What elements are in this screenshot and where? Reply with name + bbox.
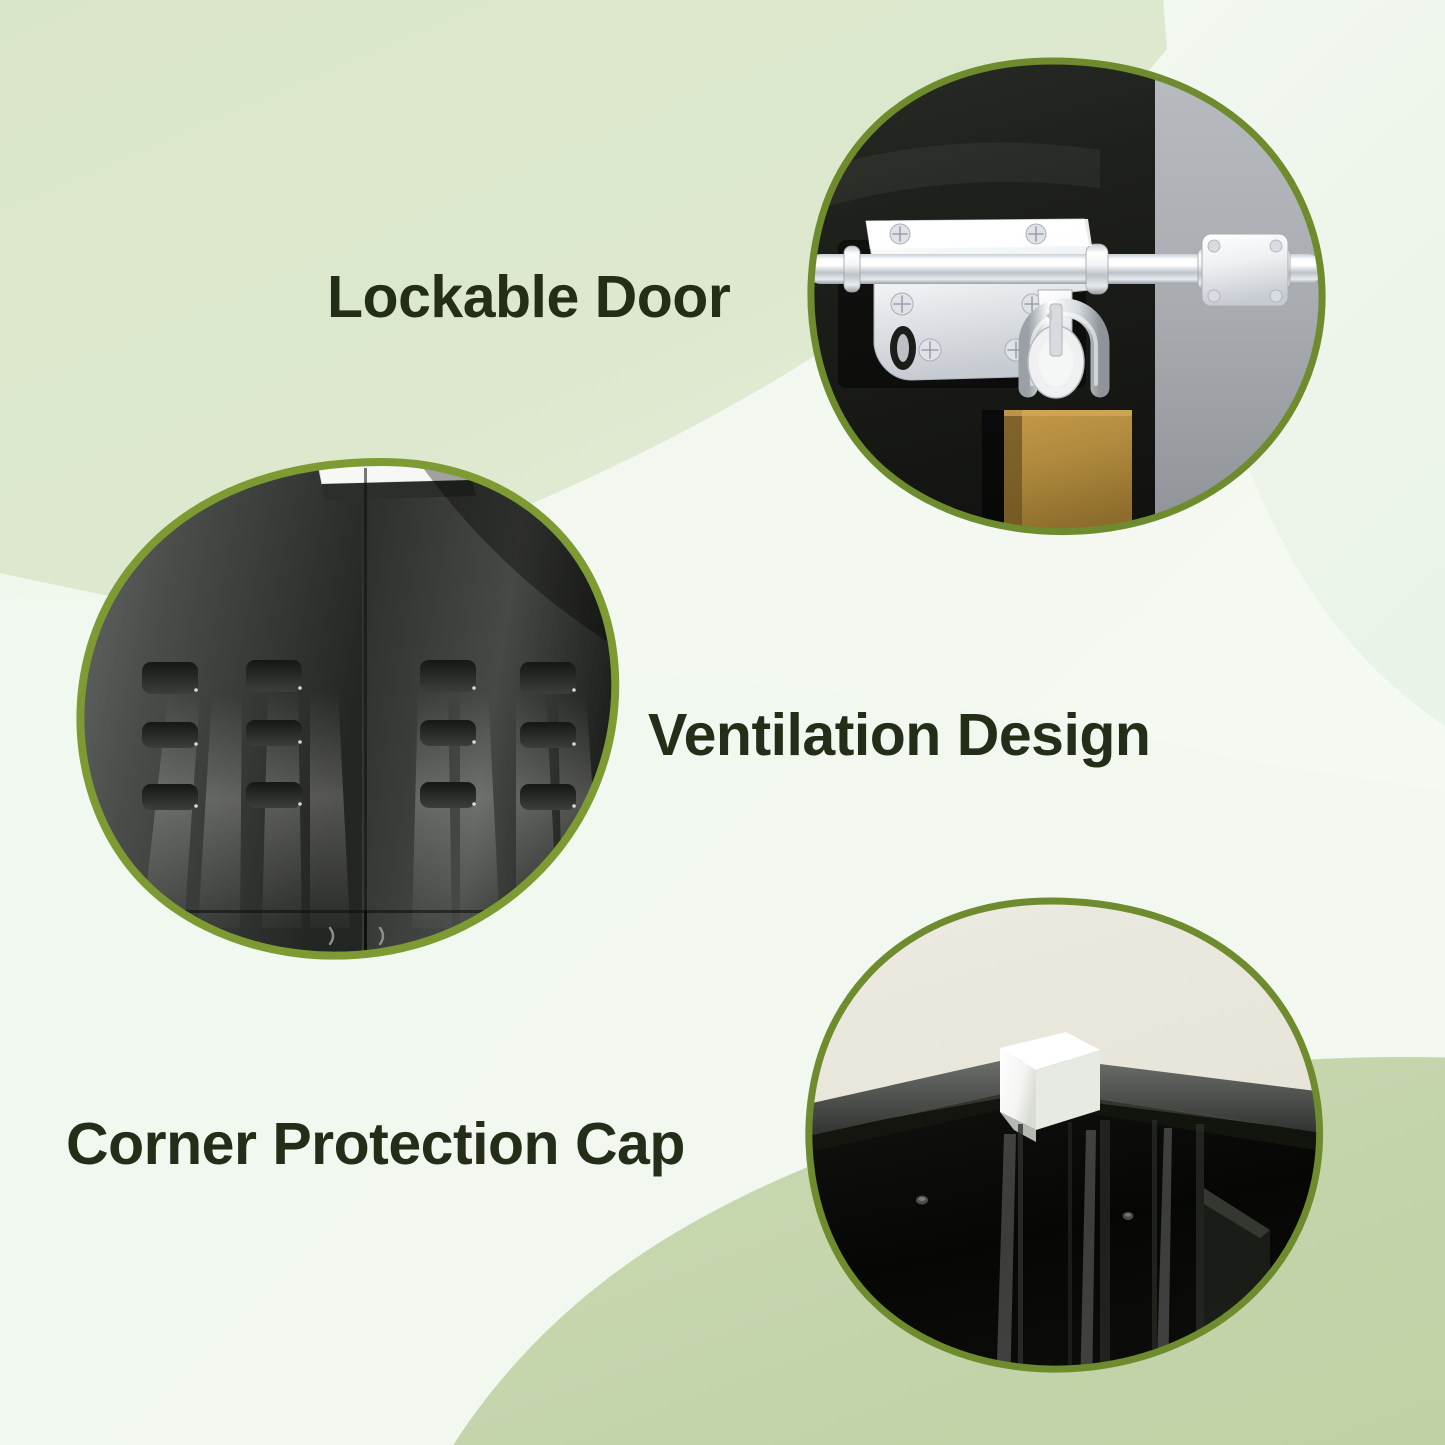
ventilation-photo-content — [52, 438, 652, 983]
wall-ridge-seam — [364, 468, 367, 968]
vent-slot — [246, 660, 302, 692]
feature-label-ventilation-design: Ventilation Design — [648, 706, 1150, 765]
door-top-seam — [52, 910, 652, 913]
vent-slot — [520, 722, 576, 748]
feature-label-corner-protection-cap: Corner Protection Cap — [66, 1115, 685, 1174]
vent-slot — [520, 662, 576, 694]
vent-slot — [420, 660, 476, 692]
latch-slot-highlight — [897, 334, 909, 362]
door-centre-seam — [364, 910, 367, 970]
vent-slot — [420, 720, 476, 746]
vent-slot — [246, 720, 302, 746]
vent-slot — [142, 722, 198, 748]
padlock-body-side — [1004, 410, 1022, 536]
feature-photo-ventilation-design — [72, 458, 620, 960]
bolt-keeper-bracket — [1202, 234, 1288, 306]
vent-slot — [142, 662, 198, 694]
padlock-body — [1004, 410, 1132, 536]
vent-slot — [520, 784, 576, 810]
vent-slot — [246, 782, 302, 808]
vent-slot — [420, 782, 476, 808]
feature-photo-lockable-door — [800, 58, 1328, 536]
padlock-body-top-edge — [1004, 410, 1132, 416]
infographic-canvas: Lockable Door — [0, 0, 1445, 1445]
feature-photo-corner-protection-cap — [800, 898, 1328, 1376]
vent-slot — [142, 784, 198, 810]
feature-label-lockable-door: Lockable Door — [327, 268, 730, 327]
